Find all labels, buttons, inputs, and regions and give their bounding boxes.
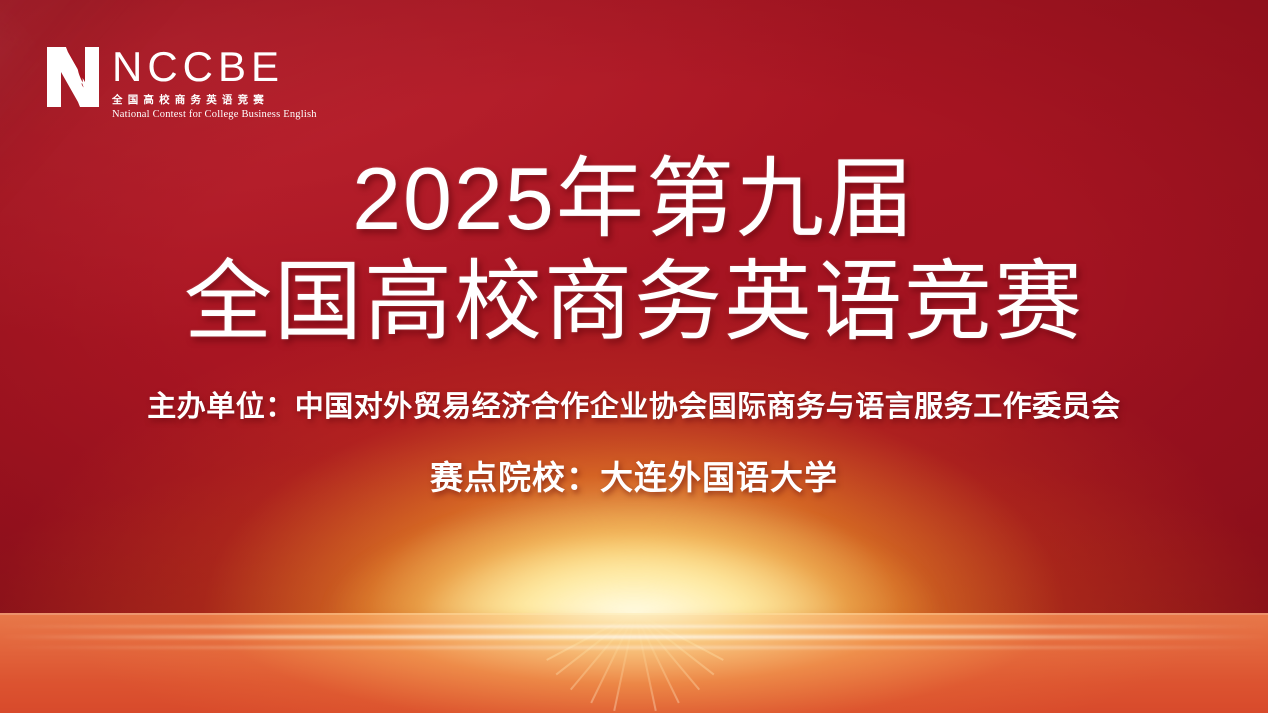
poster-title-line-2: 全国高校商务英语竞赛 [0, 253, 1268, 352]
floor-light-streak [0, 625, 1268, 628]
organizer-text: 主办单位：中国对外贸易经济合作企业协会国际商务与语言服务工作委员会 [0, 383, 1268, 425]
event-poster: NCCBE 全国高校商务英语竞赛 National Contest for Co… [0, 0, 1268, 713]
nccbe-logo: NCCBE 全国高校商务英语竞赛 National Contest for Co… [44, 46, 317, 120]
venue-text: 赛点院校：大连外国语大学 [0, 451, 1268, 499]
logo-wordmark: NCCBE [112, 47, 317, 87]
poster-title-line-1: 2025年第九届 [0, 150, 1268, 249]
nccbe-n-monogram-icon [44, 46, 102, 108]
horizon-core-glow [324, 497, 944, 617]
poster-content: 2025年第九届 全国高校商务英语竞赛 主办单位：中国对外贸易经济合作企业协会国… [0, 150, 1268, 499]
floor-light-streak [0, 635, 1268, 639]
floor-light-streak [0, 646, 1268, 649]
logo-chinese-name: 全国高校商务英语竞赛 [112, 92, 317, 107]
floor-center-glow [0, 613, 1268, 713]
logo-english-name: National Contest for College Business En… [112, 109, 317, 120]
perspective-floor [0, 613, 1268, 713]
